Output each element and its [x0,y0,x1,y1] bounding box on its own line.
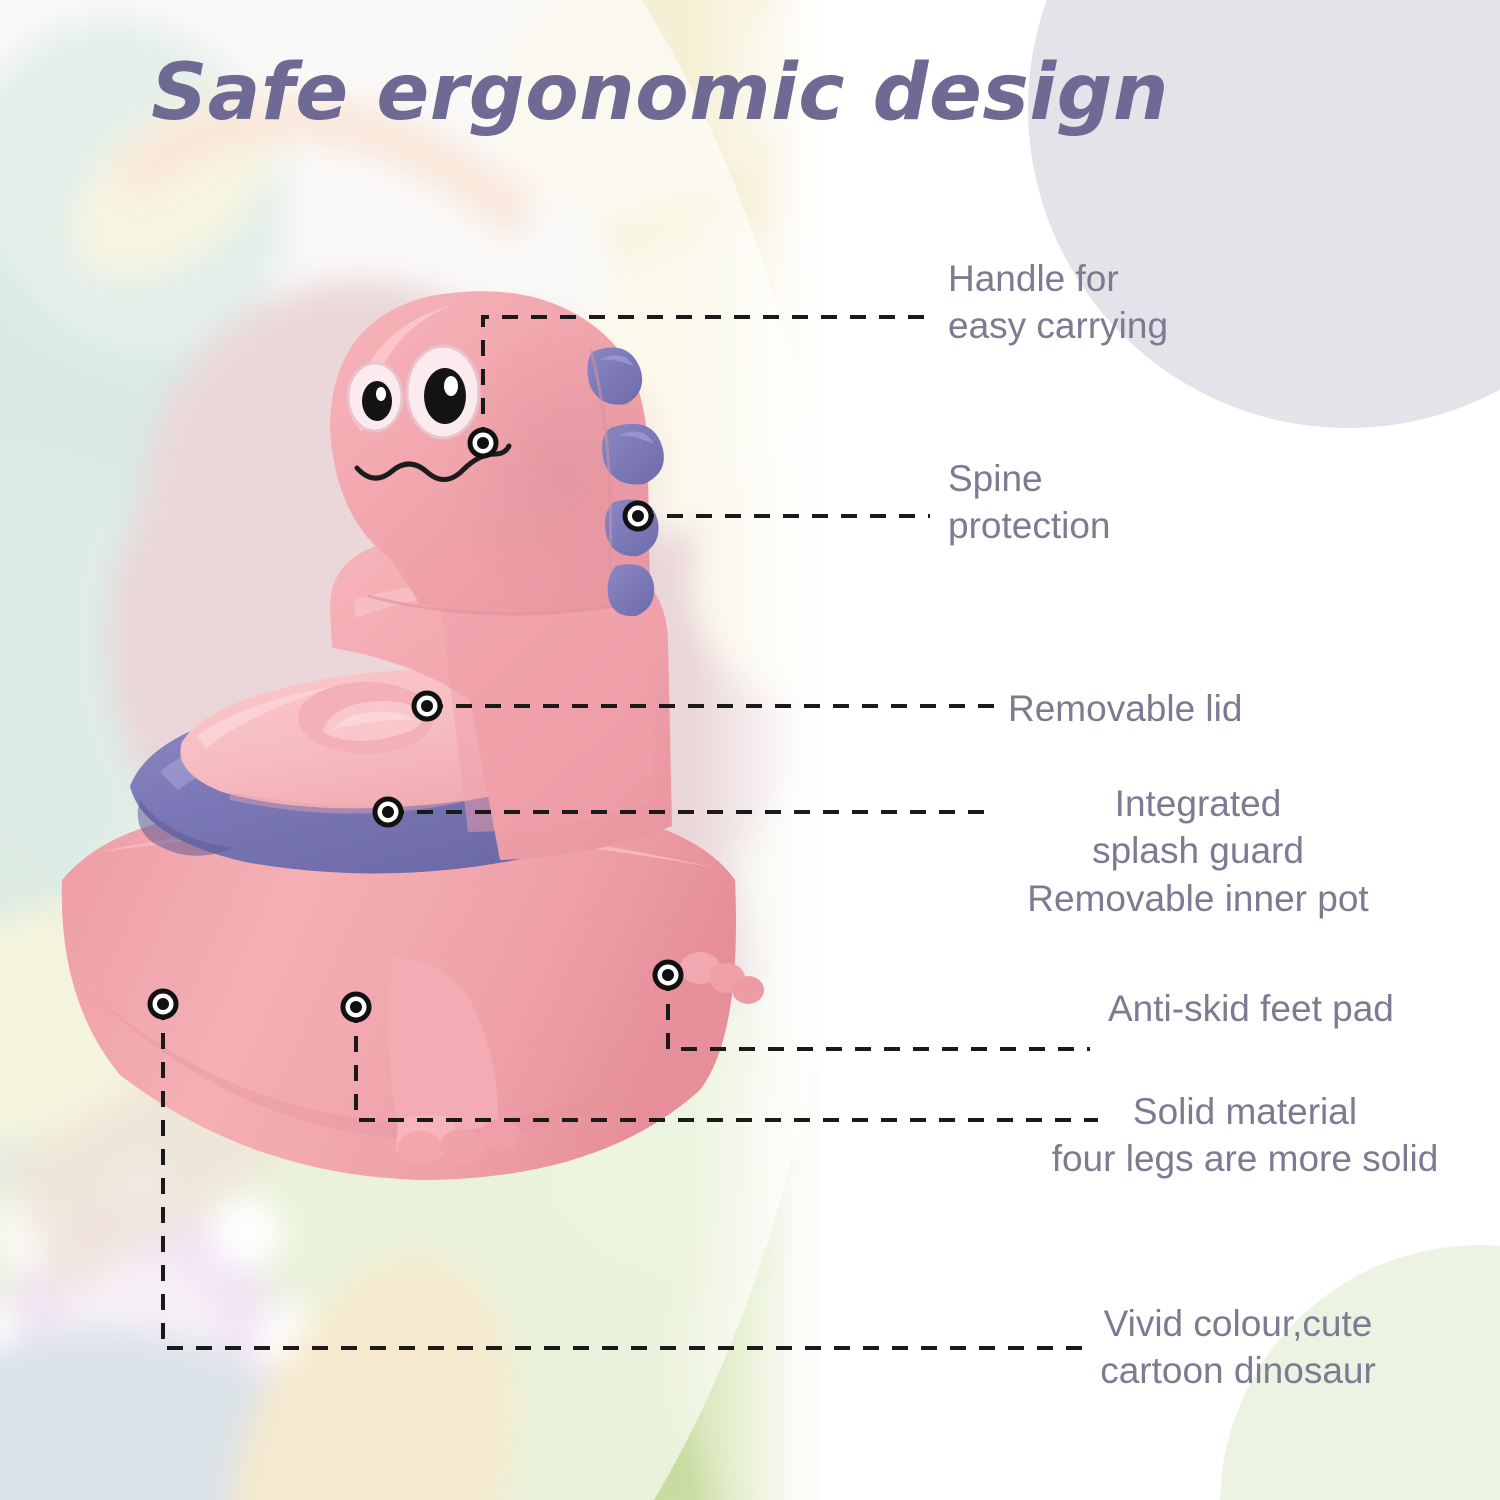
callout-leader-lines [0,0,1500,1500]
callout-label-colour: Vivid colour,cute cartoon dinosaur [1008,1300,1468,1395]
callout-label-lid: Removable lid [1008,685,1242,732]
callout-dot-handle [470,430,496,456]
callout-dot-solid [343,994,369,1020]
leader-line-feet [668,975,1090,1049]
infographic-canvas: Safe ergonomic design [0,0,1500,1500]
callout-dots [150,430,681,1020]
callout-dot-spine [625,503,651,529]
callout-dot-colour [150,991,176,1017]
callout-dot-feet [655,962,681,988]
callout-label-solid: Solid material four legs are more solid [995,1088,1495,1183]
callout-label-spine: Spine protection [948,455,1111,550]
leader-line-handle [483,317,930,443]
callout-dot-lid [414,693,440,719]
leader-line-solid [356,1007,1098,1120]
callout-label-splash: Integrated splash guard Removable inner … [948,780,1448,922]
callout-dot-splash [375,799,401,825]
callout-label-feet: Anti-skid feet pad [1108,985,1394,1032]
leader-line-colour [163,1004,1082,1348]
callout-label-handle: Handle for easy carrying [948,255,1168,350]
